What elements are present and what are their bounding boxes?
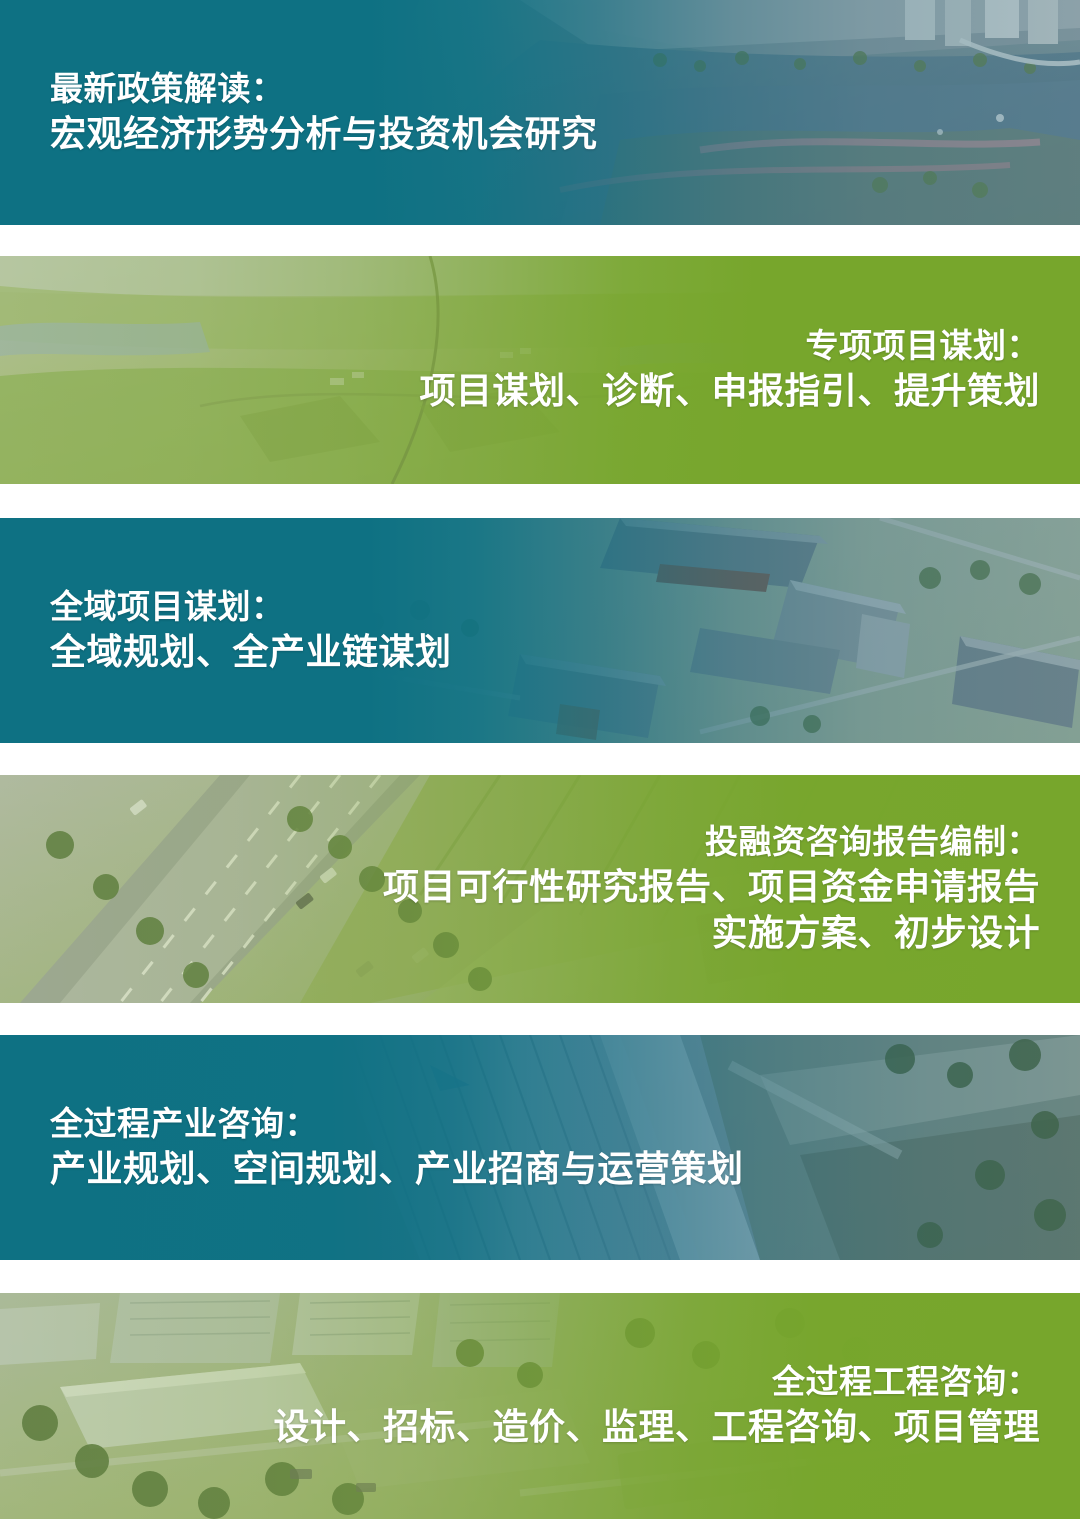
band-2-line-1: 项目谋划、诊断、申报指引、提升策划 <box>419 368 1040 415</box>
band-4-heading: 投融资咨询报告编制： <box>705 821 1040 864</box>
band-2-heading: 专项项目谋划： <box>806 325 1041 368</box>
service-band-6: 全过程工程咨询： 设计、招标、造价、监理、工程咨询、项目管理 <box>0 1293 1080 1519</box>
band-5-text: 全过程产业咨询： 产业规划、空间规划、产业招商与运营策划 <box>0 1035 1080 1260</box>
service-band-2: 专项项目谋划： 项目谋划、诊断、申报指引、提升策划 <box>0 256 1080 484</box>
band-3-heading: 全域项目谋划： <box>50 586 285 629</box>
band-4-line-1: 项目可行性研究报告、项目资金申请报告 <box>383 864 1040 911</box>
band-4-line-2: 实施方案、初步设计 <box>711 910 1040 957</box>
band-5-line-1: 产业规划、空间规划、产业招商与运营策划 <box>50 1146 744 1193</box>
band-3-line-1: 全域规划、全产业链谋划 <box>50 629 452 676</box>
band-2-text: 专项项目谋划： 项目谋划、诊断、申报指引、提升策划 <box>0 256 1080 484</box>
band-6-line-1: 设计、招标、造价、监理、工程咨询、项目管理 <box>273 1404 1040 1451</box>
service-band-4: 投融资咨询报告编制： 项目可行性研究报告、项目资金申请报告 实施方案、初步设计 <box>0 775 1080 1003</box>
band-4-text: 投融资咨询报告编制： 项目可行性研究报告、项目资金申请报告 实施方案、初步设计 <box>0 775 1080 1003</box>
service-band-3: 全域项目谋划： 全域规划、全产业链谋划 <box>0 518 1080 743</box>
service-band-1: 最新政策解读： 宏观经济形势分析与投资机会研究 <box>0 0 1080 225</box>
band-5-heading: 全过程产业咨询： <box>50 1103 318 1146</box>
poster-root: 最新政策解读： 宏观经济形势分析与投资机会研究 <box>0 0 1080 1519</box>
band-1-heading: 最新政策解读： <box>50 68 285 111</box>
service-band-5: 全过程产业咨询： 产业规划、空间规划、产业招商与运营策划 <box>0 1035 1080 1260</box>
band-6-text: 全过程工程咨询： 设计、招标、造价、监理、工程咨询、项目管理 <box>0 1293 1080 1519</box>
band-1-text: 最新政策解读： 宏观经济形势分析与投资机会研究 <box>0 0 1080 225</box>
band-3-text: 全域项目谋划： 全域规划、全产业链谋划 <box>0 518 1080 743</box>
band-1-line-1: 宏观经济形势分析与投资机会研究 <box>50 111 598 158</box>
band-6-heading: 全过程工程咨询： <box>772 1361 1040 1404</box>
